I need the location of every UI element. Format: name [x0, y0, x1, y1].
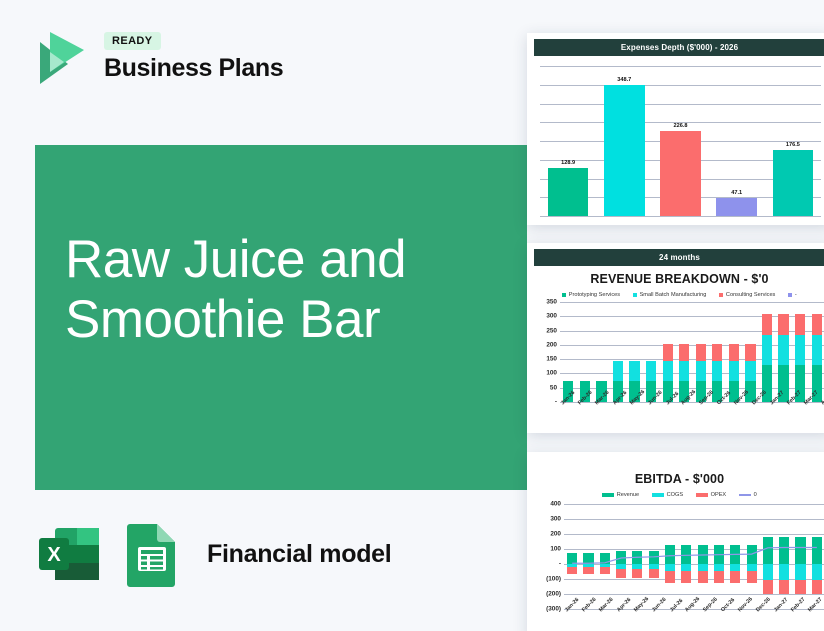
- double-play-triangle-logo: [28, 26, 90, 88]
- brand-logo-block: READY Business Plans: [28, 26, 283, 88]
- bar-segment: [778, 335, 788, 365]
- bar-segment: [646, 361, 656, 381]
- bar-segment: [613, 361, 623, 381]
- bar-cell: [643, 302, 660, 402]
- plot-revenue-breakdown: 35030025020015010050-: [560, 302, 824, 402]
- legend-swatch: [788, 293, 792, 297]
- legend-item: OPEX: [696, 492, 726, 498]
- bar: [604, 85, 644, 216]
- y-tick-label: 300: [546, 313, 557, 320]
- bar-segment: [663, 361, 673, 381]
- y-tick-label: 100: [546, 370, 557, 377]
- y-tick-label: 250: [546, 327, 557, 334]
- y-tick-label: (100): [546, 576, 561, 583]
- y-tick-label: 300: [550, 516, 561, 523]
- bar-cell: [676, 302, 693, 402]
- page-title: Raw Juice and Smoothie Bar: [65, 230, 505, 351]
- slide-canvas: READY Business Plans Raw Juice and Smoot…: [0, 0, 824, 631]
- bar-segment: [629, 361, 639, 381]
- logo-svg: [28, 26, 90, 88]
- bar-value-label: 176.5: [786, 142, 800, 148]
- sheet-header-expenses: Expenses Depth ($'000) - 2026: [534, 39, 824, 56]
- y-tick-label: 350: [546, 299, 557, 306]
- legend-item: -: [788, 292, 796, 298]
- bar-cell: 226.8: [652, 66, 708, 216]
- bar: [548, 168, 588, 216]
- y-tick-label: 200: [550, 531, 561, 538]
- bar-cell: [792, 302, 809, 402]
- legend-item: Small Batch Manufacturing: [633, 292, 706, 298]
- bar-segment: [795, 314, 805, 335]
- bar-segment: [812, 335, 822, 365]
- bar-stack: [795, 314, 805, 402]
- legend-label: OPEX: [711, 492, 727, 498]
- bar-cell: [560, 302, 577, 402]
- google-sheets-icon: [121, 520, 183, 588]
- chart-legend-revenue: Prototyping ServicesSmall Batch Manufact…: [534, 292, 824, 298]
- chart-title-revenue: REVENUE BREAKDOWN - $'0: [534, 272, 824, 286]
- bar-cell: 348.7: [596, 66, 652, 216]
- bar-segment: [762, 335, 772, 365]
- bar-segment: [679, 344, 689, 361]
- bar-cell: [775, 302, 792, 402]
- bar-segment: [745, 344, 755, 361]
- legend-item: 0: [739, 492, 757, 498]
- ready-badge: READY: [104, 32, 161, 50]
- bar-segment: [712, 344, 722, 361]
- y-tick-label: (200): [546, 591, 561, 598]
- gridline: [540, 216, 821, 217]
- legend-swatch: [696, 493, 708, 497]
- bar-stack: [778, 314, 788, 402]
- bar-cell: [709, 302, 726, 402]
- sheet-header-revenue: 24 months: [534, 249, 824, 266]
- bar-cell: [759, 302, 776, 402]
- ebitda-line-series: [564, 504, 824, 609]
- bar-group: 128.9348.7226.847.1176.5: [540, 66, 821, 216]
- legend-label: -: [795, 292, 797, 298]
- legend-item: Consulting Services: [719, 292, 775, 298]
- bar-segment: [679, 361, 689, 381]
- footer-label: Financial model: [207, 540, 391, 569]
- bar-cell: 176.5: [765, 66, 821, 216]
- bar-cell: [610, 302, 627, 402]
- y-tick-label: -: [559, 561, 561, 568]
- bar: [773, 150, 813, 216]
- bar-cell: [577, 302, 594, 402]
- chart-legend-ebitda: RevenueCOGSOPEX0: [534, 492, 824, 498]
- y-tick-label: 100: [550, 546, 561, 553]
- bar-segment: [696, 361, 706, 381]
- brand-text: READY Business Plans: [104, 32, 283, 83]
- legend-label: Prototyping Services: [569, 292, 620, 298]
- footer-row: X Financial model: [35, 520, 391, 588]
- bar-segment: [696, 344, 706, 361]
- excel-icon: X: [35, 520, 103, 588]
- hero-panel: Raw Juice and Smoothie Bar: [35, 145, 527, 490]
- legend-swatch: [562, 293, 566, 297]
- bar-cell: [742, 302, 759, 402]
- bar-segment: [729, 361, 739, 381]
- bar-segment: [729, 344, 739, 361]
- legend-label: Small Batch Manufacturing: [640, 292, 707, 298]
- bar-cell: [693, 302, 710, 402]
- bar-cell: 47.1: [709, 66, 765, 216]
- bar-segment: [762, 314, 772, 335]
- y-tick-label: 50: [550, 384, 557, 391]
- legend-swatch: [633, 293, 637, 297]
- bar-stack: [812, 314, 822, 402]
- x-axis-labels-revenue: Jan-26Feb-26Mar-26Apr-26May-26Jun-26Jul-…: [560, 402, 824, 430]
- legend-label: COGS: [667, 492, 683, 498]
- bar-cell: [593, 302, 610, 402]
- bar-cell: [726, 302, 743, 402]
- brand-name: Business Plans: [104, 54, 283, 83]
- legend-item: COGS: [652, 492, 683, 498]
- bar-cell: [808, 302, 824, 402]
- legend-item: Prototyping Services: [562, 292, 620, 298]
- y-tick-label: 400: [550, 501, 561, 508]
- legend-swatch: [652, 493, 664, 497]
- bar-cell: [626, 302, 643, 402]
- legend-swatch: [719, 293, 723, 297]
- x-axis-labels-ebitda: Jan-26Feb-26Mar-26Apr-26May-26Jun-26Jul-…: [564, 609, 824, 631]
- bar-value-label: 348.7: [617, 77, 631, 83]
- bar-cell: [659, 302, 676, 402]
- bar-value-label: 226.8: [674, 123, 688, 129]
- bar-segment: [663, 344, 673, 361]
- legend-swatch: [739, 494, 751, 496]
- legend-label: 0: [754, 492, 757, 498]
- bar: [716, 198, 756, 216]
- legend-swatch: [602, 493, 614, 497]
- y-tick-label: (300): [546, 606, 561, 613]
- bar-cell: 128.9: [540, 66, 596, 216]
- y-tick-label: -: [555, 399, 557, 406]
- bar-segment: [795, 335, 805, 365]
- bar-stack: [663, 344, 673, 402]
- bar-segment: [712, 361, 722, 381]
- bar-value-label: 47.1: [731, 190, 742, 196]
- legend-label: Revenue: [617, 492, 639, 498]
- bar-segment: [745, 361, 755, 381]
- legend-label: Consulting Services: [726, 292, 775, 298]
- bar: [660, 131, 700, 216]
- bar-group: [560, 302, 824, 402]
- y-tick-label: 200: [546, 341, 557, 348]
- legend-item: Revenue: [602, 492, 639, 498]
- bar-value-label: 128.9: [561, 160, 575, 166]
- chart-card-ebitda[interactable]: EBITDA - $'000 RevenueCOGSOPEX0 40030020…: [527, 452, 824, 631]
- y-tick-label: 150: [546, 356, 557, 363]
- plot-ebitda: 400300200100-(100)(200)(300): [564, 504, 824, 609]
- bar-segment: [778, 314, 788, 335]
- chart-card-expenses-depth[interactable]: Expenses Depth ($'000) - 2026 128.9348.7…: [527, 33, 824, 225]
- plot-expenses-depth: 128.9348.7226.847.1176.5: [540, 66, 821, 216]
- chart-title-ebitda: EBITDA - $'000: [534, 472, 824, 486]
- svg-text:X: X: [47, 544, 61, 566]
- chart-card-revenue-breakdown[interactable]: 24 months REVENUE BREAKDOWN - $'0 Protot…: [527, 243, 824, 433]
- bar-segment: [812, 314, 822, 335]
